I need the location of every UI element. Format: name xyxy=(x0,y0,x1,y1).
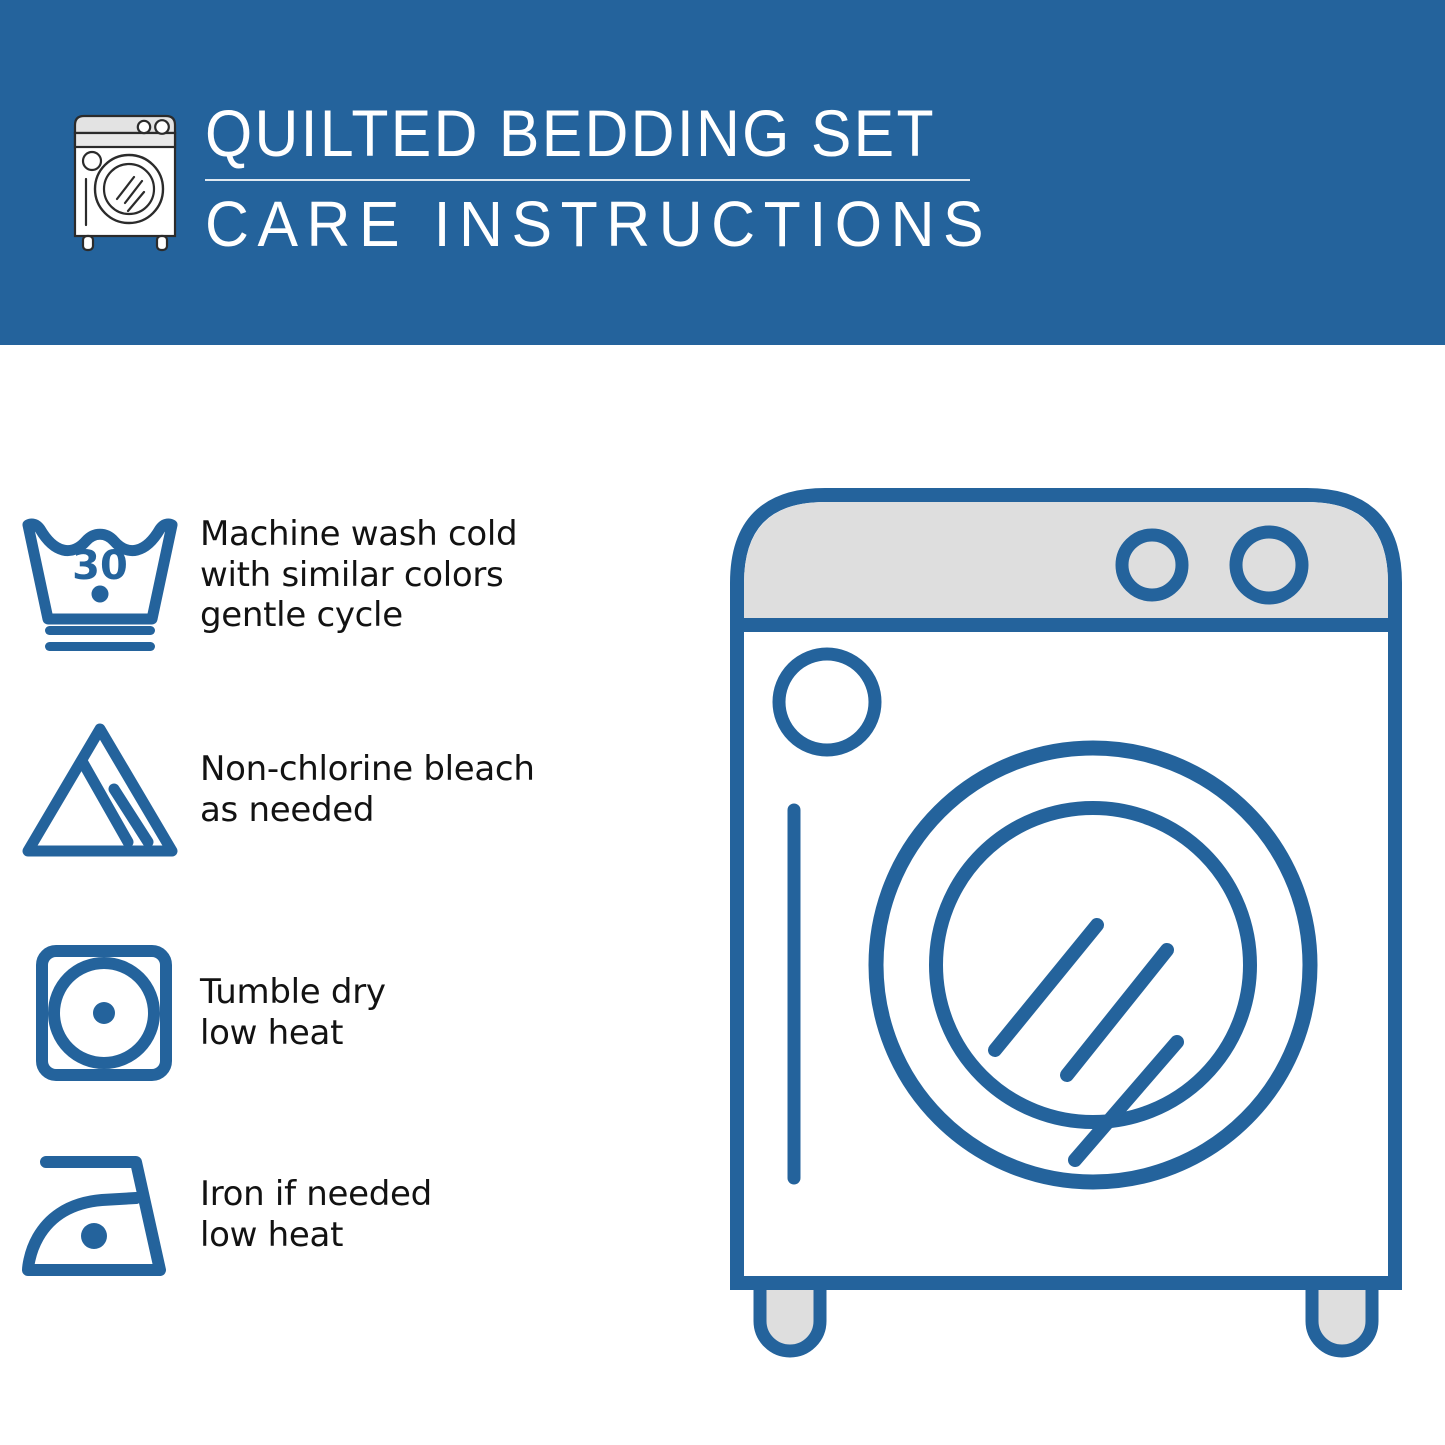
washing-machine-icon xyxy=(62,103,188,255)
header-banner: QUILTED BEDDING SET CARE INSTRUCTIONS xyxy=(0,0,1445,345)
front-load-washing-machine-illustration xyxy=(715,465,1415,1365)
care-instruction-list: 30 Machine wash cold with similar colors… xyxy=(0,345,700,1445)
non-chlorine-bleach-triangle-icon xyxy=(0,715,200,865)
detergent-port xyxy=(779,654,875,750)
care-row-iron: Iron if needed low heat xyxy=(0,1130,700,1300)
title-divider xyxy=(205,179,970,181)
header-text-block: QUILTED BEDDING SET CARE INSTRUCTIONS xyxy=(205,100,995,256)
door-inner-ring xyxy=(936,808,1250,1122)
care-row-bleach: Non-chlorine bleach as needed xyxy=(0,705,700,875)
knob-right xyxy=(1236,532,1302,598)
page-subtitle: CARE INSTRUCTIONS xyxy=(205,192,956,256)
care-text-iron: Iron if needed low heat xyxy=(200,1174,700,1256)
care-text-bleach: Non-chlorine bleach as needed xyxy=(200,749,700,831)
care-text-machine-wash: Machine wash cold with similar colors ge… xyxy=(200,514,700,636)
knob-left xyxy=(1122,535,1182,595)
wash-tub-30-gentle-icon: 30 xyxy=(0,495,200,655)
wash-temperature-label: 30 xyxy=(72,543,128,589)
care-row-tumble-dry: Tumble dry low heat xyxy=(0,925,700,1100)
care-instructions-infographic: QUILTED BEDDING SET CARE INSTRUCTIONS 30 xyxy=(0,0,1445,1445)
care-row-machine-wash: 30 Machine wash cold with similar colors… xyxy=(0,485,700,665)
iron-low-heat-icon xyxy=(0,1140,200,1290)
page-title: QUILTED BEDDING SET xyxy=(205,100,932,166)
care-text-tumble-dry: Tumble dry low heat xyxy=(200,972,700,1054)
tumble-dry-low-heat-icon xyxy=(0,933,200,1093)
